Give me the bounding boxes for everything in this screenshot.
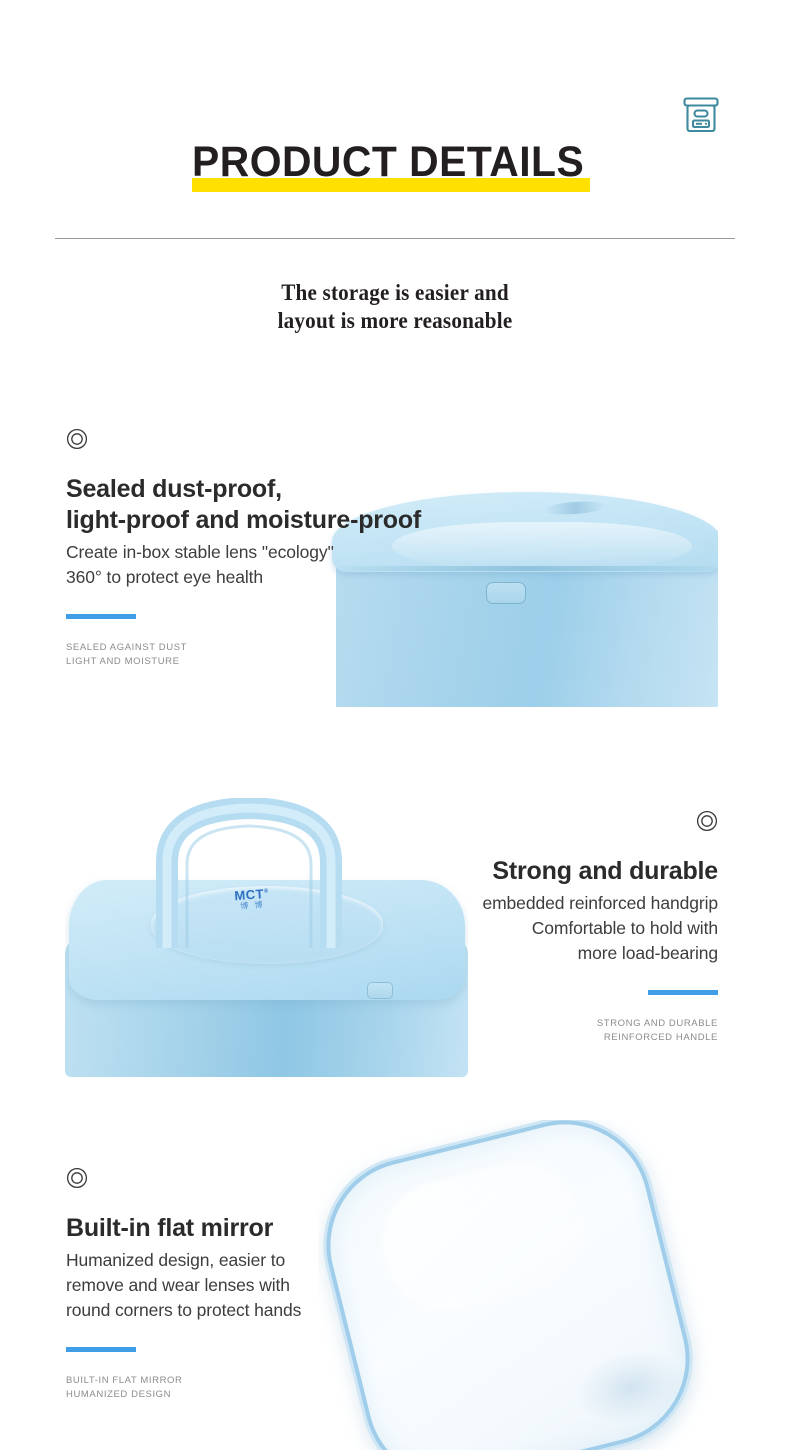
- feature-title-line-1: Built-in flat mirror: [66, 1213, 496, 1244]
- ring-icon: [66, 428, 88, 450]
- feature-description: Create in-box stable lens "ecology" 360°…: [66, 540, 536, 590]
- feature-caption: SEALED AGAINST DUST LIGHT AND MOISTURE: [66, 641, 536, 669]
- feature-caption-line-1: BUILT-IN FLAT MIRROR: [66, 1374, 496, 1388]
- feature-description: embedded reinforced handgrip Comfortable…: [288, 891, 718, 966]
- storage-box-icon: [681, 96, 721, 134]
- feature-caption-line-1: SEALED AGAINST DUST: [66, 641, 536, 655]
- feature-title: Built-in flat mirror: [66, 1213, 496, 1244]
- feature-title: Strong and durable: [288, 856, 718, 887]
- accent-bar: [66, 614, 136, 619]
- feature-desc-line-2: 360° to protect eye health: [66, 565, 536, 590]
- feature-caption-line-2: REINFORCED HANDLE: [288, 1031, 718, 1045]
- ring-icon: [66, 1167, 88, 1189]
- feature-title: Sealed dust-proof, light-proof and moist…: [66, 474, 536, 536]
- header-divider: [55, 238, 735, 239]
- feature-caption-line-1: STRONG AND DURABLE: [288, 1017, 718, 1031]
- brand-registered-mark: ®: [264, 888, 269, 894]
- accent-bar: [66, 1347, 136, 1352]
- feature-desc-line-3: more load-bearing: [288, 941, 718, 966]
- page-subtitle: The storage is easier and layout is more…: [32, 279, 759, 335]
- feature-section-sealed: Sealed dust-proof, light-proof and moist…: [66, 428, 536, 669]
- feature-caption-line-2: LIGHT AND MOISTURE: [66, 655, 536, 669]
- feature-desc-line-1: Humanized design, easier to: [66, 1248, 496, 1273]
- title-underline: [192, 178, 590, 192]
- ring-icon: [696, 810, 718, 832]
- feature-desc-line-3: round corners to protect hands: [66, 1298, 496, 1323]
- feature-description: Humanized design, easier to remove and w…: [66, 1248, 496, 1323]
- product-details-page: PRODUCT DETAILS The storage is easier an…: [0, 0, 790, 1450]
- feature-caption: STRONG AND DURABLE REINFORCED HANDLE: [288, 1017, 718, 1045]
- feature-caption: BUILT-IN FLAT MIRROR HUMANIZED DESIGN: [66, 1374, 496, 1402]
- feature-desc-line-1: Create in-box stable lens "ecology": [66, 540, 536, 565]
- feature-desc-line-1: embedded reinforced handgrip: [288, 891, 718, 916]
- feature-caption-line-2: HUMANIZED DESIGN: [66, 1388, 496, 1402]
- feature-title-line-1: Sealed dust-proof,: [66, 474, 536, 505]
- feature-desc-line-2: remove and wear lenses with: [66, 1273, 496, 1298]
- subtitle-line-1: The storage is easier and: [32, 279, 759, 307]
- feature-title-line-1: Strong and durable: [288, 856, 718, 887]
- accent-bar: [648, 990, 718, 995]
- subtitle-line-2: layout is more reasonable: [32, 307, 759, 335]
- feature-desc-line-2: Comfortable to hold with: [288, 916, 718, 941]
- feature-title-line-2: light-proof and moisture-proof: [66, 505, 536, 536]
- feature-section-durable: Strong and durable embedded reinforced h…: [288, 810, 718, 1045]
- feature-section-mirror: Built-in flat mirror Humanized design, e…: [66, 1167, 496, 1402]
